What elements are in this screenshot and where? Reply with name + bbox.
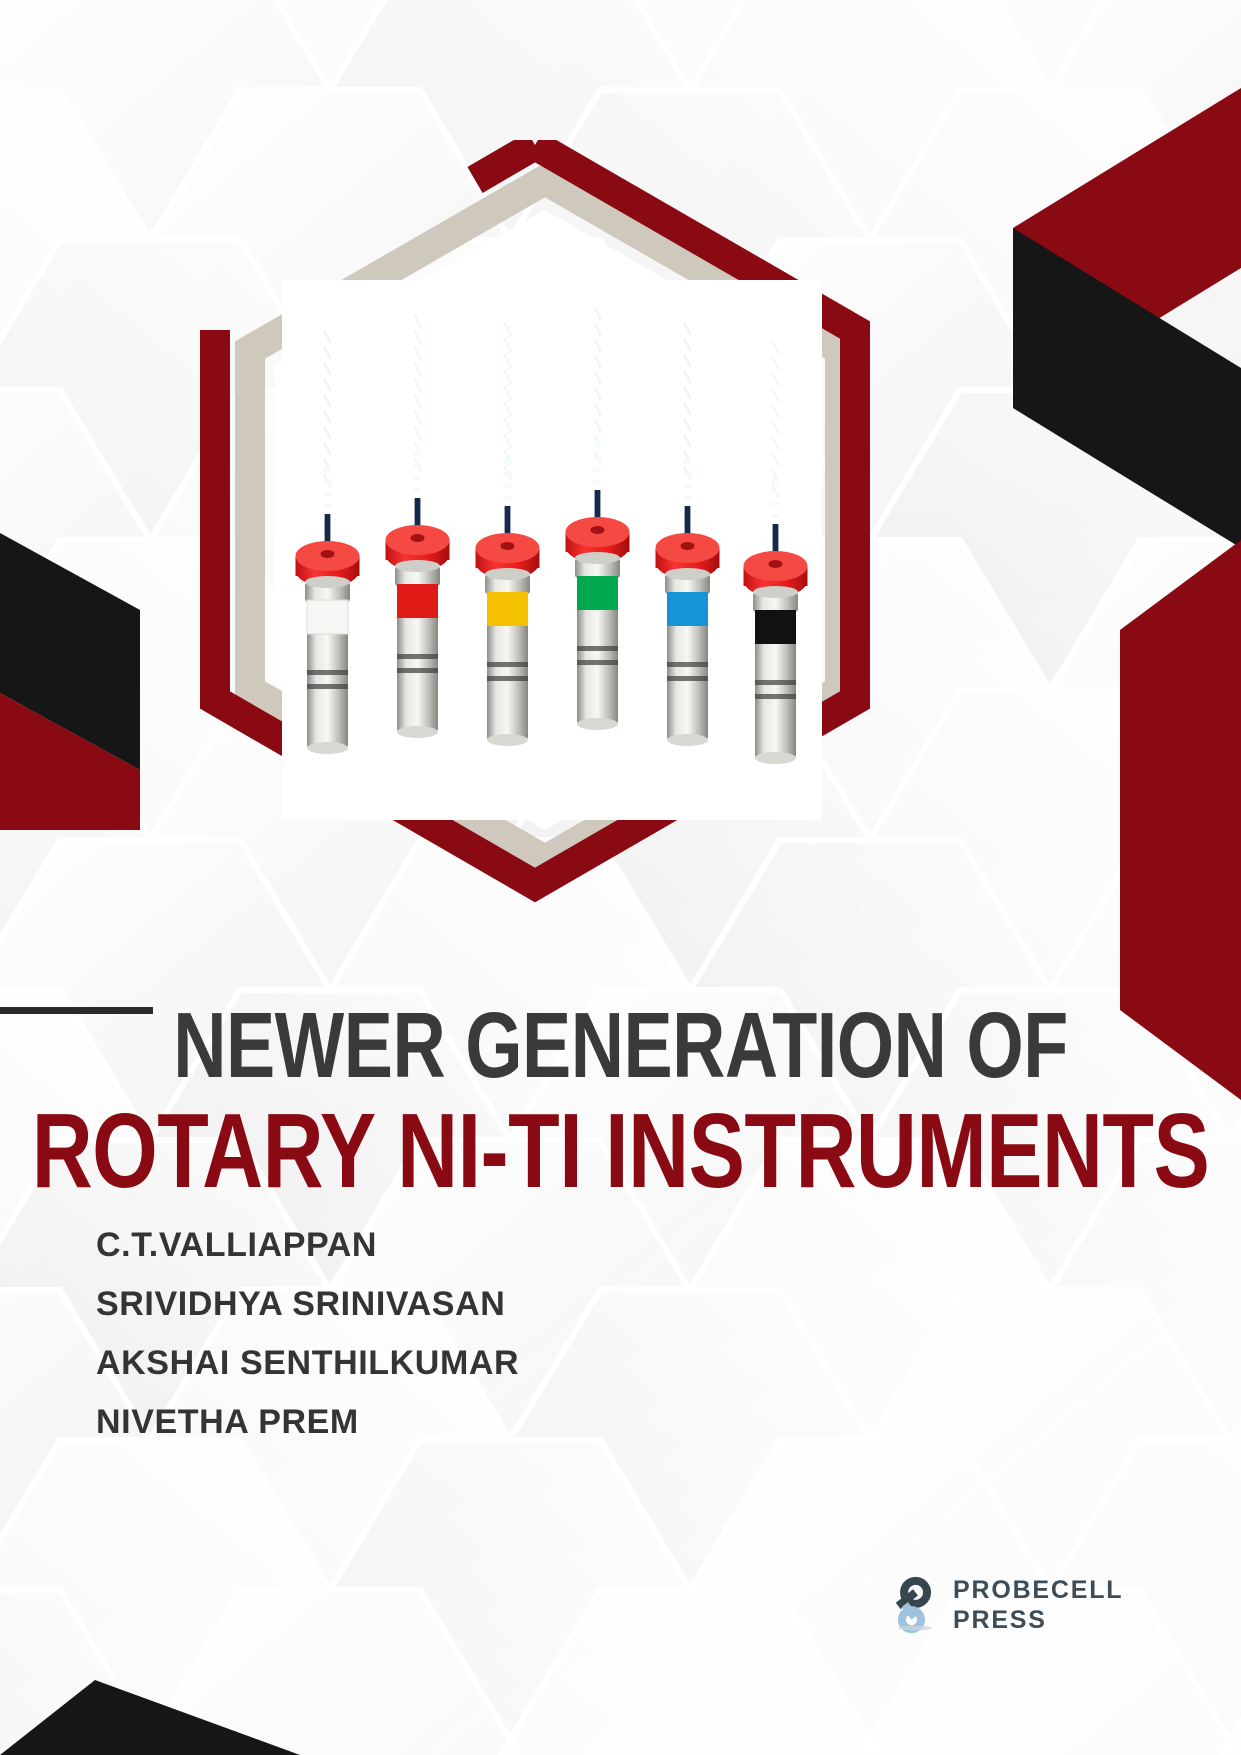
author-name: SRIVIDHYA SRINIVASAN	[96, 1287, 519, 1321]
publisher-logo: PROBECELL PRESS	[885, 1576, 1123, 1634]
top-right-chevron	[898, 78, 1241, 598]
title-line-1: NEWER GENERATION OF	[19, 1000, 1223, 1093]
title-line-2: ROTARY NI-TI INSTRUMENTS	[19, 1098, 1223, 1204]
author-name: C.T.VALLIAPPAN	[96, 1228, 519, 1262]
author-name: AKSHAI SENTHILKUMAR	[96, 1346, 519, 1380]
author-name: NIVETHA PREM	[96, 1405, 519, 1439]
cover-title: NEWER GENERATION OF ROTARY NI-TI INSTRUM…	[0, 1000, 1241, 1185]
book-cover: NEWER GENERATION OF ROTARY NI-TI INSTRUM…	[0, 0, 1241, 1755]
bottom-left-triangle	[0, 1680, 300, 1755]
rotary-niti-files-image	[282, 280, 822, 820]
probecell-link-mark-icon	[885, 1576, 943, 1634]
author-list: C.T.VALLIAPPAN SRIVIDHYA SRINIVASAN AKSH…	[96, 1228, 519, 1464]
left-chevron	[0, 500, 160, 830]
publisher-name-line-1: PROBECELL	[953, 1578, 1123, 1603]
publisher-name-line-2: PRESS	[953, 1608, 1123, 1633]
